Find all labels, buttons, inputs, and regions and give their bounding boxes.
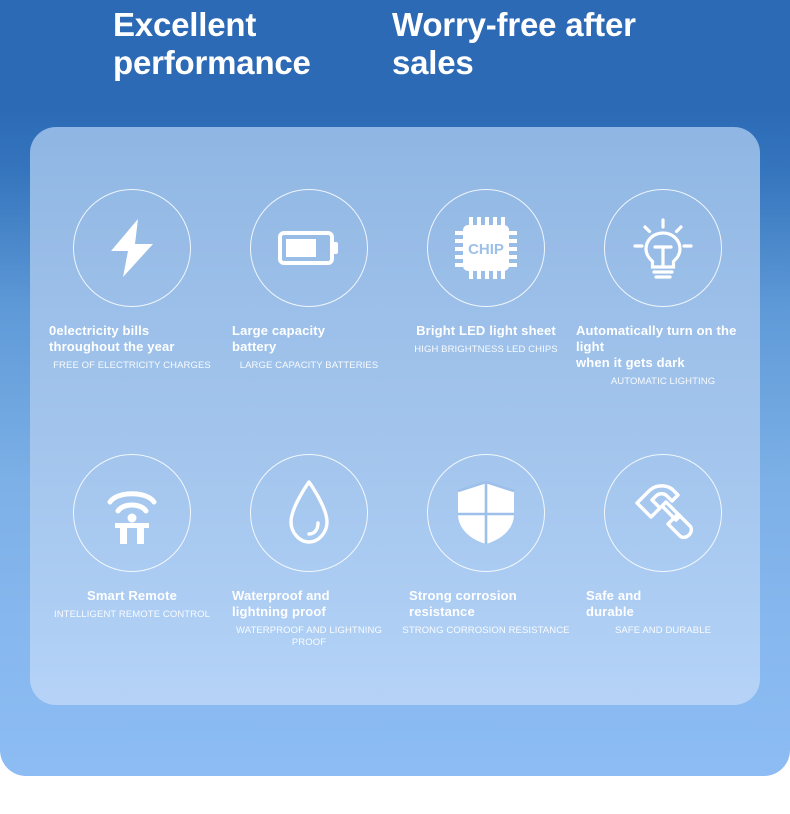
icon-circle	[604, 189, 722, 307]
feature-item-waterproof[interactable]: Waterproof and lightning proof WATERPROO…	[220, 454, 398, 649]
battery-icon	[278, 228, 340, 268]
feature-subtitle: STRONG CORROSION RESISTANCE	[397, 625, 575, 637]
feature-title: Automatically turn on the light when it …	[574, 323, 760, 371]
icon-circle	[604, 454, 722, 572]
feature-subtitle: INTELLIGENT REMOTE CONTROL	[43, 609, 221, 621]
feature-item-bright-led[interactable]: CHIP Bright LED light sheet HIGH BRIGHTN…	[397, 189, 575, 356]
icon-circle	[427, 454, 545, 572]
headline-excellent-performance: Excellent performance	[113, 6, 383, 82]
feature-title: Smart Remote	[43, 588, 221, 604]
icon-circle	[250, 189, 368, 307]
feature-subtitle: WATERPROOF AND LIGHTNING PROOF	[220, 625, 398, 649]
feature-item-large-battery[interactable]: Large capacity battery LARGE CAPACITY BA…	[220, 189, 398, 372]
headline-row: Excellent performance Worry-free after s…	[0, 0, 790, 120]
feature-item-smart-remote[interactable]: Smart Remote INTELLIGENT REMOTE CONTROL	[43, 454, 221, 621]
feature-title: Strong corrosion resistance	[397, 588, 575, 620]
feature-item-safe-durable[interactable]: Safe and durable SAFE AND DURABLE	[574, 454, 752, 637]
icon-circle	[250, 454, 368, 572]
hammer-icon	[630, 480, 696, 546]
feature-panel: 0electricity bills throughout the year F…	[30, 127, 760, 705]
chip-icon: CHIP	[455, 217, 517, 279]
feature-title: 0electricity bills throughout the year	[39, 323, 221, 355]
feature-title: Bright LED light sheet	[397, 323, 575, 339]
feature-subtitle: AUTOMATIC LIGHTING	[574, 376, 752, 388]
feature-title: Safe and durable	[574, 588, 752, 620]
feature-title: Waterproof and lightning proof	[220, 588, 398, 620]
icon-circle: CHIP	[427, 189, 545, 307]
feature-item-corrosion-resistance[interactable]: Strong corrosion resistance STRONG CORRO…	[397, 454, 575, 637]
icon-circle	[73, 189, 191, 307]
light-bulb-icon	[631, 216, 695, 280]
feature-item-free-electricity[interactable]: 0electricity bills throughout the year F…	[43, 189, 221, 372]
feature-grid: 0electricity bills throughout the year F…	[30, 127, 760, 705]
shield-icon	[456, 481, 516, 545]
smart-remote-icon	[101, 482, 163, 544]
feature-title: Large capacity battery	[220, 323, 398, 355]
feature-subtitle: SAFE AND DURABLE	[574, 625, 752, 637]
icon-circle	[73, 454, 191, 572]
feature-subtitle: HIGH BRIGHTNESS LED CHIPS	[397, 344, 575, 356]
headline-worry-free-after-sales: Worry-free after sales	[392, 6, 742, 82]
product-feature-banner: Excellent performance Worry-free after s…	[0, 0, 790, 814]
feature-subtitle: LARGE CAPACITY BATTERIES	[220, 360, 398, 372]
water-drop-icon	[283, 479, 335, 547]
chip-label: CHIP	[468, 241, 504, 258]
feature-item-auto-lighting[interactable]: Automatically turn on the light when it …	[574, 189, 752, 388]
outer-blue-panel: Excellent performance Worry-free after s…	[0, 0, 790, 776]
feature-subtitle: FREE OF ELECTRICITY CHARGES	[43, 360, 221, 372]
lightning-bolt-icon	[105, 218, 159, 278]
